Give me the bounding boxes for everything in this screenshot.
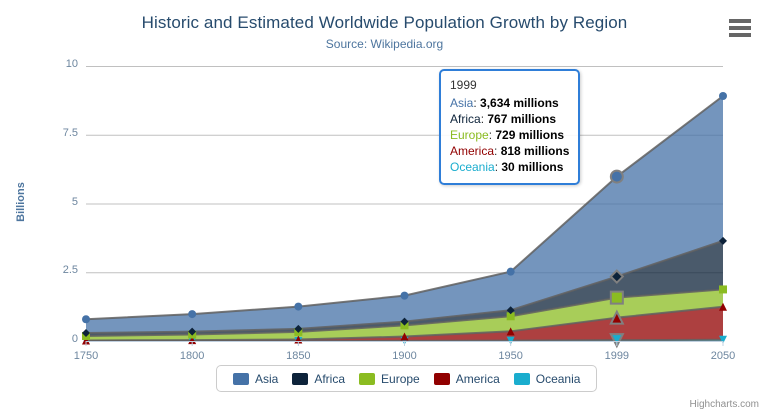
- tooltip-series-name-america: America: [450, 144, 494, 158]
- y-axis-title: Billions: [15, 172, 27, 232]
- point-europe-2050[interactable]: [719, 285, 727, 293]
- point-europe-1999[interactable]: [611, 292, 623, 304]
- tooltip-series-value-asia: 3,634 millions: [480, 96, 559, 110]
- chart-legend: AsiaAfricaEuropeAmericaOceania: [216, 365, 597, 392]
- point-asia-1850[interactable]: [294, 303, 302, 311]
- point-asia-1900[interactable]: [401, 292, 409, 300]
- tooltip-row-europe: Europe: 729 millions: [450, 127, 569, 143]
- tooltip-rows: Asia: 3,634 millionsAfrica: 767 millions…: [450, 95, 569, 175]
- highcharts-chart: Historic and Estimated Worldwide Populat…: [0, 0, 769, 416]
- y-axis-label-5: 5: [38, 196, 78, 208]
- legend-swatch-america: [434, 373, 450, 385]
- y-axis-label-7.5: 7.5: [38, 127, 78, 139]
- tooltip-row-oceania: Oceania: 30 millions: [450, 159, 569, 175]
- legend-item-oceania[interactable]: Oceania: [514, 372, 581, 386]
- legend-label-america: America: [456, 372, 500, 386]
- legend-item-asia[interactable]: Asia: [233, 372, 278, 386]
- tooltip-row-asia: Asia: 3,634 millions: [450, 95, 569, 111]
- point-asia-1950[interactable]: [507, 268, 515, 276]
- tooltip-series-name-europe: Europe: [450, 128, 489, 142]
- point-asia-2050[interactable]: [719, 92, 727, 100]
- y-axis-label-2.5: 2.5: [38, 264, 78, 276]
- highcharts-credits[interactable]: Highcharts.com: [690, 399, 759, 410]
- legend-swatch-oceania: [514, 373, 530, 385]
- x-axis-label-1750[interactable]: 1750: [56, 350, 116, 362]
- legend-swatch-africa: [292, 373, 308, 385]
- legend-swatch-europe: [359, 373, 375, 385]
- point-asia-1999[interactable]: [611, 171, 623, 183]
- y-axis-label-10: 10: [38, 58, 78, 70]
- tooltip-series-value-america: 818 millions: [501, 144, 570, 158]
- tooltip-series-name-africa: Africa: [450, 112, 481, 126]
- x-axis-label-1900[interactable]: 1900: [375, 350, 435, 362]
- x-axis-label-2050[interactable]: 2050: [693, 350, 753, 362]
- x-axis-label-1800[interactable]: 1800: [162, 350, 222, 362]
- legend-label-africa: Africa: [314, 372, 345, 386]
- tooltip-row-africa: Africa: 767 millions: [450, 111, 569, 127]
- tooltip-series-value-africa: 767 millions: [487, 112, 556, 126]
- tooltip-series-name-oceania: Oceania: [450, 160, 495, 174]
- legend-item-america[interactable]: America: [434, 372, 500, 386]
- y-axis-label-0: 0: [38, 333, 78, 345]
- tooltip-series-value-europe: 729 millions: [495, 128, 564, 142]
- chart-tooltip: 1999 Asia: 3,634 millionsAfrica: 767 mil…: [439, 69, 580, 185]
- legend-item-africa[interactable]: Africa: [292, 372, 345, 386]
- point-asia-1800[interactable]: [188, 310, 196, 318]
- legend-swatch-asia: [233, 373, 249, 385]
- legend-label-oceania: Oceania: [536, 372, 581, 386]
- legend-item-europe[interactable]: Europe: [359, 372, 420, 386]
- tooltip-row-america: America: 818 millions: [450, 143, 569, 159]
- legend-label-asia: Asia: [255, 372, 278, 386]
- x-axis-label-1999[interactable]: 1999: [587, 350, 647, 362]
- tooltip-series-value-oceania: 30 millions: [501, 160, 563, 174]
- x-axis-label-1950[interactable]: 1950: [481, 350, 541, 362]
- tooltip-header: 1999: [450, 78, 569, 92]
- x-axis-label-1850[interactable]: 1850: [268, 350, 328, 362]
- point-asia-1750[interactable]: [82, 315, 90, 323]
- tooltip-series-name-asia: Asia: [450, 96, 473, 110]
- legend-label-europe: Europe: [381, 372, 420, 386]
